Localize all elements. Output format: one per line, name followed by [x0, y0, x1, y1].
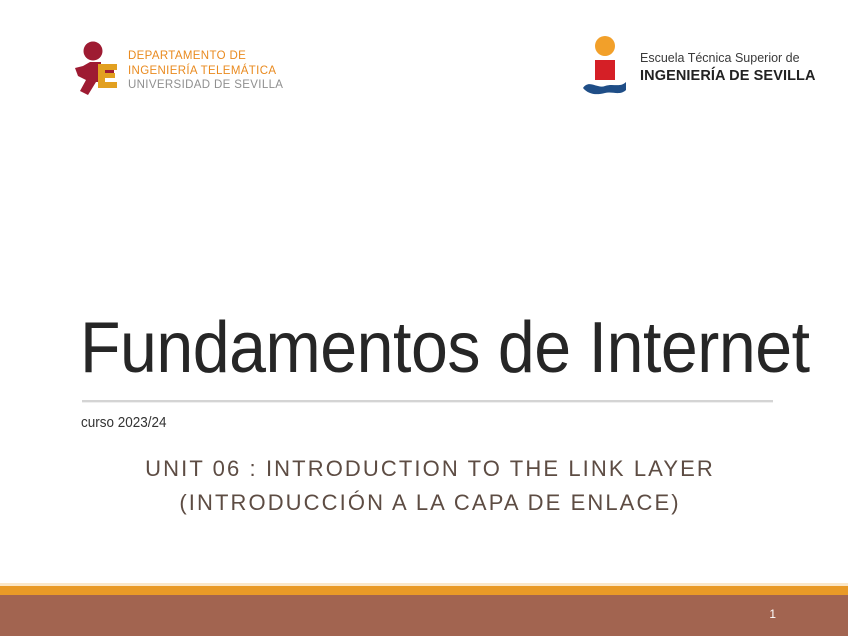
etsi-logo-icon	[580, 33, 630, 95]
slide-canvas: DEPARTAMENTO DE INGENIERÍA TELEMÁTICA UN…	[0, 0, 848, 636]
etsi-logo: Escuela Técnica Superior de INGENIERÍA D…	[580, 33, 816, 95]
etsi-line-2: INGENIERÍA DE SEVILLA	[640, 67, 816, 85]
subtitle-line-2: (INTRODUCCIÓN A LA CAPA DE ENLACE)	[80, 486, 780, 520]
title-divider	[82, 400, 773, 403]
subtitle-line-1: UNIT 06 : INTRODUCTION TO THE LINK LAYER	[145, 456, 715, 481]
dit-logo-text: DEPARTAMENTO DE INGENIERÍA TELEMÁTICA UN…	[128, 40, 283, 93]
etsi-logo-text: Escuela Técnica Superior de INGENIERÍA D…	[640, 33, 816, 85]
footer-band-orange	[0, 586, 848, 595]
dit-line-3: UNIVERSIDAD DE SEVILLA	[128, 78, 283, 93]
page-number: 1	[769, 607, 776, 621]
course-label: curso 2023/24	[81, 415, 166, 431]
dit-logo-icon	[70, 40, 122, 98]
page-subtitle: UNIT 06 : INTRODUCTION TO THE LINK LAYER…	[80, 452, 780, 520]
etsi-line-1: Escuela Técnica Superior de	[640, 51, 816, 67]
footer-band-brown	[0, 595, 848, 636]
dit-line-2: INGENIERÍA TELEMÁTICA	[128, 64, 283, 79]
page-title: Fundamentos de Internet	[80, 312, 724, 384]
dit-logo: DEPARTAMENTO DE INGENIERÍA TELEMÁTICA UN…	[70, 40, 283, 98]
dit-line-1: DEPARTAMENTO DE	[128, 49, 283, 64]
